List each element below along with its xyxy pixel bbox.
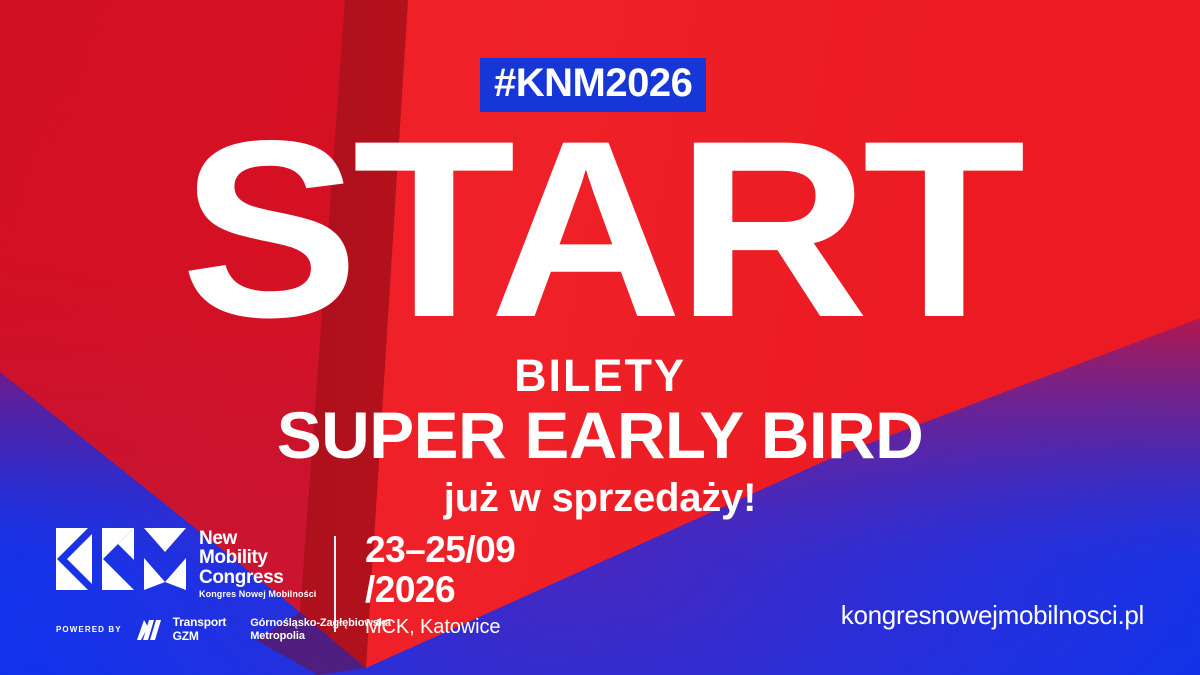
subheadline-line-2: SUPER EARLY BIRD [0, 399, 1200, 473]
powered-by-label: POWERED BY [56, 625, 122, 634]
knm-name-line-1: New [199, 529, 316, 548]
knm-name-line-2: Mobility [199, 548, 316, 567]
subheadline-block: BILETY SUPER EARLY BIRD już w sprzedaży! [0, 352, 1200, 523]
event-venue: MCK, Katowice [365, 616, 515, 639]
promo-banner: #KNM2026 START BILETY SUPER EARLY BIRD j… [0, 0, 1200, 675]
event-date-block: 23–25/09 /2026 MCK, Katowice [365, 530, 515, 639]
knm-subtitle: Kongres Nowej Mobilności [199, 590, 316, 599]
partner-1-line-1: Transport [173, 616, 227, 629]
knm-monogram-icon [56, 528, 186, 590]
vertical-divider [334, 536, 336, 632]
event-date-line-1: 23–25/09 [365, 530, 515, 570]
transport-gzm-wordmark: Transport GZM [173, 616, 227, 643]
subheadline-line-1: BILETY [0, 352, 1200, 399]
website-url[interactable]: kongresnowejmobilnosci.pl [841, 600, 1144, 631]
page-title: START [0, 104, 1200, 356]
transport-gzm-icon [136, 620, 166, 640]
powered-by-row: POWERED BY Transport GZM Górnośląsko-Zag… [56, 616, 391, 643]
partner-1-line-2: GZM [173, 630, 227, 643]
event-date-line-2: /2026 [365, 570, 515, 610]
subheadline-line-3: już w sprzedaży! [0, 473, 1200, 523]
transport-gzm-logo: Transport GZM [136, 616, 227, 643]
knm-logo-block: New Mobility Congress Kongres Nowej Mobi… [56, 528, 391, 643]
knm-logo-top-row: New Mobility Congress Kongres Nowej Mobi… [56, 528, 391, 599]
knm-wordmark: New Mobility Congress Kongres Nowej Mobi… [199, 528, 316, 599]
knm-name-line-3: Congress [199, 568, 316, 587]
